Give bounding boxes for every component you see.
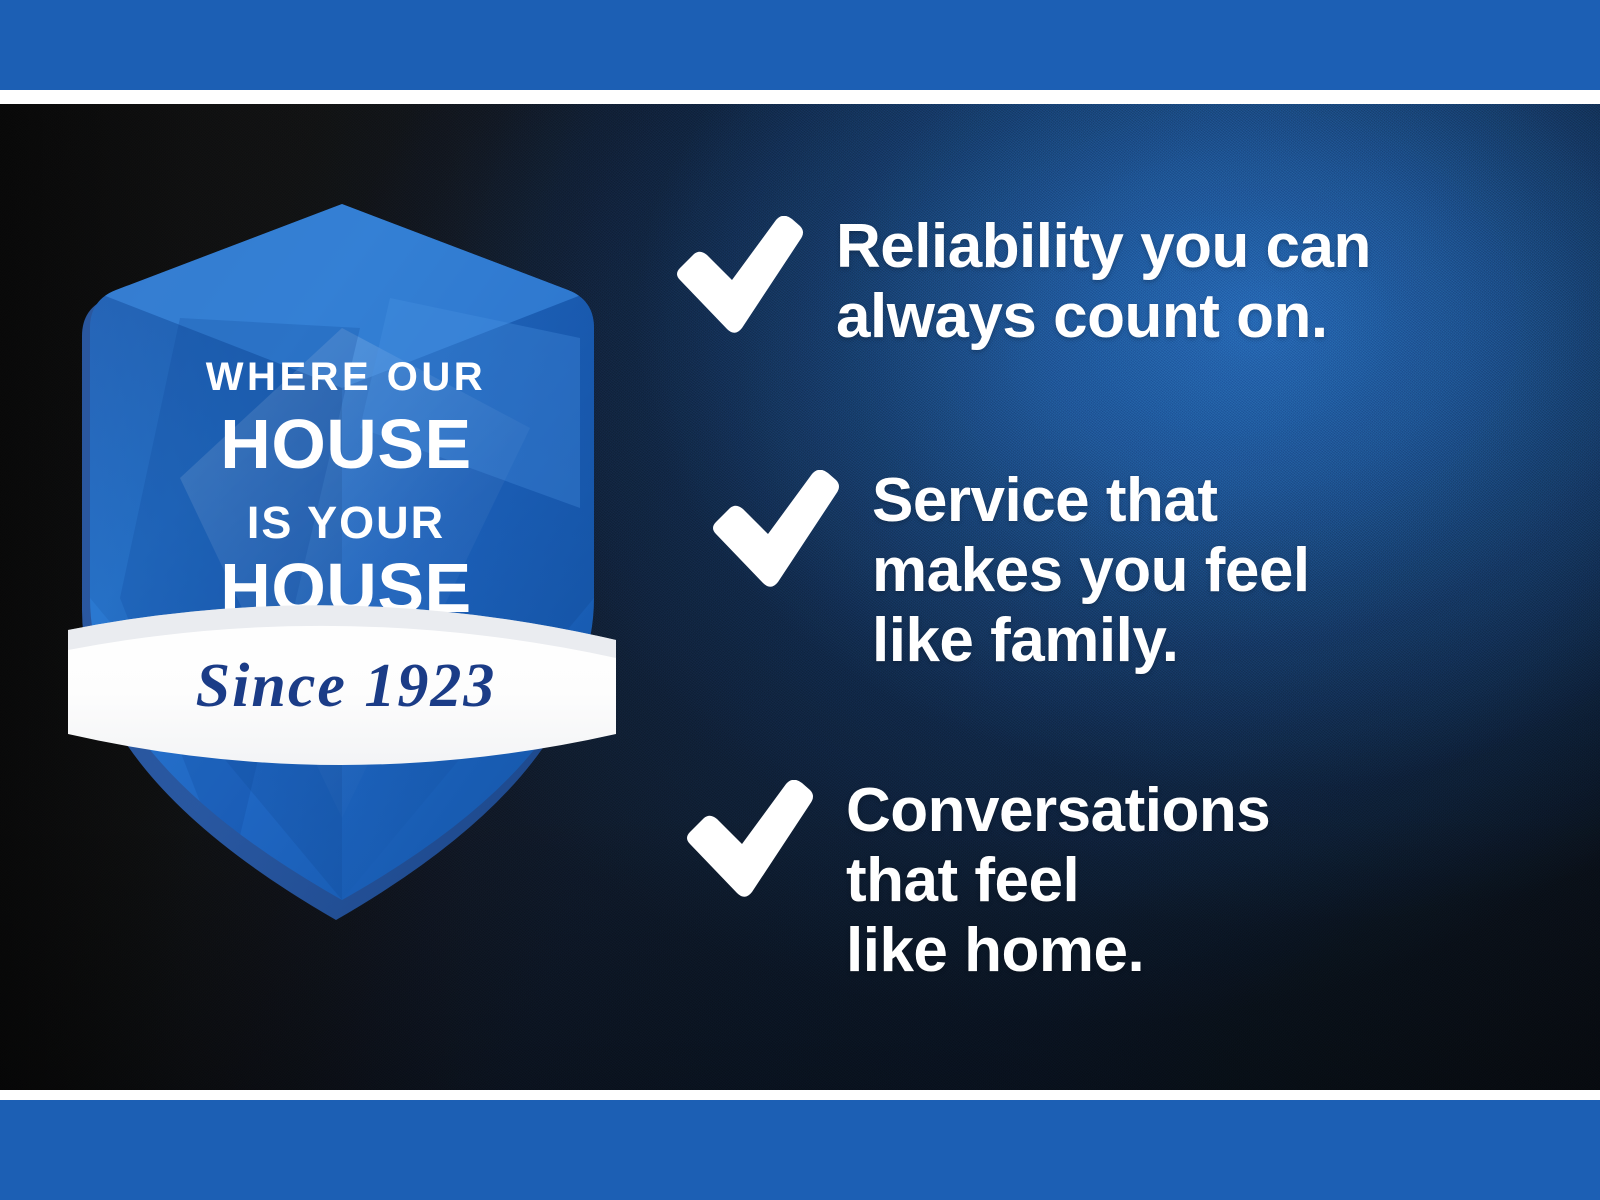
shield-line-2: HOUSE bbox=[220, 405, 471, 483]
check-icon bbox=[708, 470, 840, 590]
list-item: Service that makes you feel like family. bbox=[708, 466, 1310, 676]
top-brand-bar bbox=[0, 0, 1600, 90]
list-item: Reliability you can always count on. bbox=[672, 212, 1371, 352]
ribbon-label: Since 1923 bbox=[196, 652, 497, 720]
list-item-label: Service that makes you feel like family. bbox=[872, 466, 1310, 676]
check-icon bbox=[682, 780, 814, 900]
shield-line-3: IS YOUR bbox=[247, 497, 445, 548]
check-icon bbox=[672, 216, 804, 336]
list-item: Conversations that feel like home. bbox=[682, 776, 1270, 986]
bottom-brand-bar bbox=[0, 1100, 1600, 1200]
shield-line-1: WHERE OUR bbox=[206, 355, 486, 399]
shield-badge: WHERE OUR HOUSE IS YOUR HOUSE Since 1923 bbox=[60, 178, 620, 858]
list-item-label: Reliability you can always count on. bbox=[836, 212, 1371, 352]
promotional-banner: WHERE OUR HOUSE IS YOUR HOUSE Since 1923… bbox=[0, 0, 1600, 1200]
list-item-label: Conversations that feel like home. bbox=[846, 776, 1270, 986]
since-ribbon: Since 1923 bbox=[68, 605, 616, 765]
benefits-list: Reliability you can always count on. Ser… bbox=[672, 104, 1572, 1090]
